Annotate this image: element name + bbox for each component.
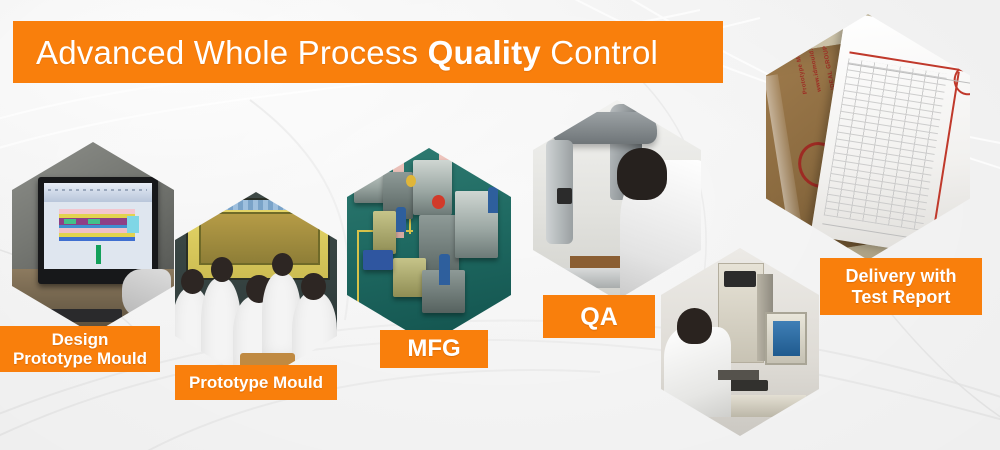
machine-operator	[439, 254, 450, 285]
machine-control-panel	[724, 271, 756, 288]
label-line-1: QA	[580, 303, 618, 331]
title-emphasis: Quality	[428, 34, 541, 71]
page-title: Advanced Whole Process Quality Control	[36, 36, 658, 69]
label-design-prototype-mould[interactable]: Design Prototype Mould	[0, 326, 160, 372]
machine-operator	[396, 207, 406, 232]
inspector-head	[617, 148, 667, 200]
label-delivery-with-test-report[interactable]: Delivery with Test Report	[820, 258, 982, 315]
operator-head	[677, 308, 712, 344]
label-qa[interactable]: QA	[543, 295, 655, 338]
cnc-machine	[413, 160, 452, 215]
title-part-1: Advanced Whole Process	[36, 34, 428, 71]
measuring-stage	[718, 370, 759, 379]
label-line-1: Delivery with	[845, 266, 956, 286]
machine-operator	[488, 187, 498, 212]
label-line-1: Prototype Mould	[189, 373, 323, 392]
cnc-machine	[393, 258, 426, 297]
quality-control-banner: Advanced Whole Process Quality Control	[0, 0, 1000, 450]
label-mfg[interactable]: MFG	[380, 330, 488, 368]
cnc-machine	[373, 211, 396, 254]
computer-monitor	[38, 177, 158, 285]
worker-head	[181, 269, 204, 294]
label-line-2: Test Report	[852, 287, 951, 307]
title-bar: Advanced Whole Process Quality Control	[13, 21, 723, 83]
label-line-2: Prototype Mould	[13, 349, 147, 368]
crt-monitor	[765, 312, 807, 365]
title-part-2: Control	[541, 34, 658, 71]
monitor-screen	[44, 183, 152, 269]
worker-head	[301, 273, 325, 300]
cad-mould-model	[59, 209, 135, 247]
machine-warning-lamp	[406, 175, 416, 187]
report-data-table	[824, 58, 948, 230]
label-prototype-mould[interactable]: Prototype Mould	[175, 365, 337, 400]
cad-model-stem	[96, 245, 101, 264]
label-line-1: MFG	[407, 336, 460, 363]
parts-pallet	[363, 250, 393, 270]
label-line-1: Design	[52, 330, 109, 349]
cmm-label-plate	[557, 188, 572, 204]
cad-software-toolbar	[44, 183, 152, 202]
